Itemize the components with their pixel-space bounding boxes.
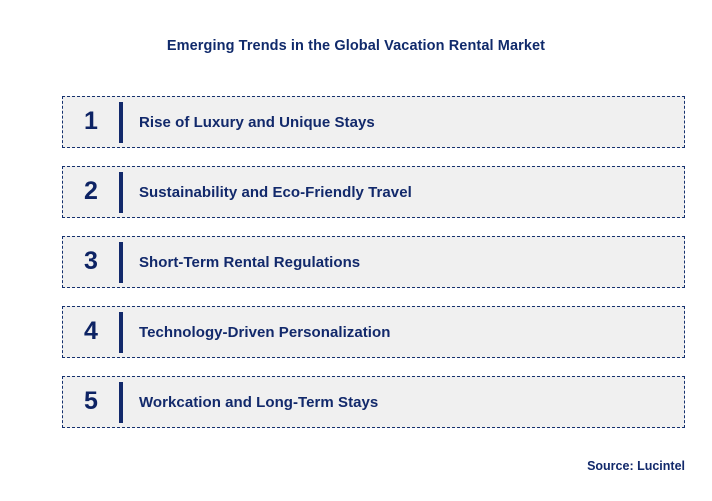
trend-rank-number: 2 xyxy=(63,179,119,206)
page-title: Emerging Trends in the Global Vacation R… xyxy=(0,38,712,54)
list-item: 2 Sustainability and Eco-Friendly Travel xyxy=(62,166,685,218)
trend-rank-number: 3 xyxy=(63,249,119,276)
list-item: 5 Workcation and Long-Term Stays xyxy=(62,376,685,428)
trend-label: Rise of Luxury and Unique Stays xyxy=(123,114,684,131)
trend-label: Technology-Driven Personalization xyxy=(123,324,684,341)
list-item: 3 Short-Term Rental Regulations xyxy=(62,236,685,288)
source-attribution: Source: Lucintel xyxy=(587,459,685,473)
trend-rank-number: 5 xyxy=(63,389,119,416)
trend-rank-number: 4 xyxy=(63,319,119,346)
trend-label: Short-Term Rental Regulations xyxy=(123,254,684,271)
list-item: 1 Rise of Luxury and Unique Stays xyxy=(62,96,685,148)
trend-list: 1 Rise of Luxury and Unique Stays 2 Sust… xyxy=(62,96,685,428)
trend-rank-number: 1 xyxy=(63,109,119,136)
list-item: 4 Technology-Driven Personalization xyxy=(62,306,685,358)
trend-label: Sustainability and Eco-Friendly Travel xyxy=(123,184,684,201)
infographic-canvas: Emerging Trends in the Global Vacation R… xyxy=(0,0,712,501)
trend-label: Workcation and Long-Term Stays xyxy=(123,394,684,411)
